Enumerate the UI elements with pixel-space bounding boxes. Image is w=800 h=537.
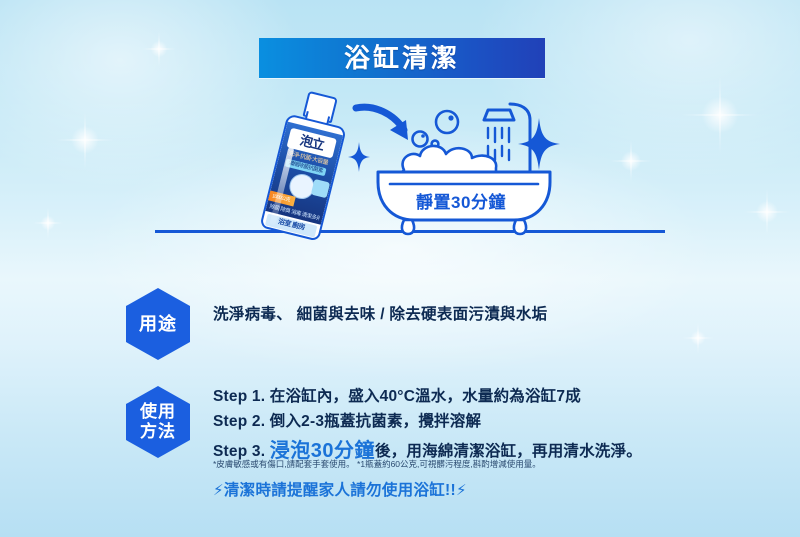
bathtub-icon: [368, 130, 560, 238]
method-steps-list: Step 1. 在浴缸內，盛入40°C溫水，水量約為浴缸7成 Step 2. 倒…: [213, 384, 683, 466]
step-lead: Step 2.: [213, 413, 265, 430]
step-item: Step 1. 在浴缸內，盛入40°C溫水，水量約為浴缸7成: [213, 384, 683, 406]
poster-canvas: 浴缸清潔 泡立 洗淨‧抗菌‧大容量 濃縮除菌抗菌素 1000公克 除菌 除臭 消…: [0, 0, 800, 537]
warning-label: 清潔時請提醒家人請勿使用浴缸!!: [224, 482, 456, 499]
page-title-banner: 浴缸清潔: [259, 38, 545, 78]
page-title: 浴缸清潔: [259, 45, 545, 71]
usage-hexagon-label: 用途: [139, 315, 177, 334]
warning-text: ⚡清潔時請提醒家人請勿使用浴缸!!⚡: [213, 478, 683, 500]
product-bottle-icon: 泡立 洗淨‧抗菌‧大容量 濃縮除菌抗菌素 1000公克 除菌 除臭 消毒 清潔多…: [254, 86, 356, 241]
usage-description: 洗淨病毒、 細菌與去味 / 除去硬表面污漬與水垢: [213, 302, 653, 324]
step-text: 在浴缸內，盛入40°C溫水，水量約為浴缸7成: [270, 388, 581, 405]
disclaimer-text: *皮膚敏感或有傷口,請配套手套使用。 *1瓶蓋約60公克,可視髒污程度,斟酌增減…: [213, 458, 683, 470]
bolt-icon: ⚡: [213, 482, 224, 499]
method-hexagon-line-1: 使用: [140, 402, 176, 421]
step-lead: Step 1.: [213, 388, 265, 405]
bottle-tag-block: [311, 179, 330, 198]
usage-hexagon-badge: 用途: [126, 288, 190, 360]
bottle-body: 泡立 洗淨‧抗菌‧大容量 濃縮除菌抗菌素 1000公克 除菌 除臭 消毒 清潔多…: [259, 113, 346, 241]
method-hexagon-label: 使用 方法: [140, 402, 176, 441]
background-sparkle-icon: [150, 40, 168, 58]
illustration-area: 泡立 洗淨‧抗菌‧大容量 濃縮除菌抗菌素 1000公克 除菌 除臭 消毒 清潔多…: [0, 80, 800, 245]
method-hexagon-badge: 使用 方法: [126, 386, 190, 458]
tub-caption: 靜置30分鐘: [396, 188, 526, 213]
step-item: Step 2. 倒入2-3瓶蓋抗菌素，攪拌溶解: [213, 409, 683, 431]
step-text: 倒入2-3瓶蓋抗菌素，攪拌溶解: [270, 413, 481, 430]
background-sparkle-icon: [690, 330, 706, 346]
sparkle-icon: [348, 142, 370, 172]
bolt-icon: ⚡: [456, 482, 467, 499]
method-hexagon-line-2: 方法: [140, 422, 176, 441]
